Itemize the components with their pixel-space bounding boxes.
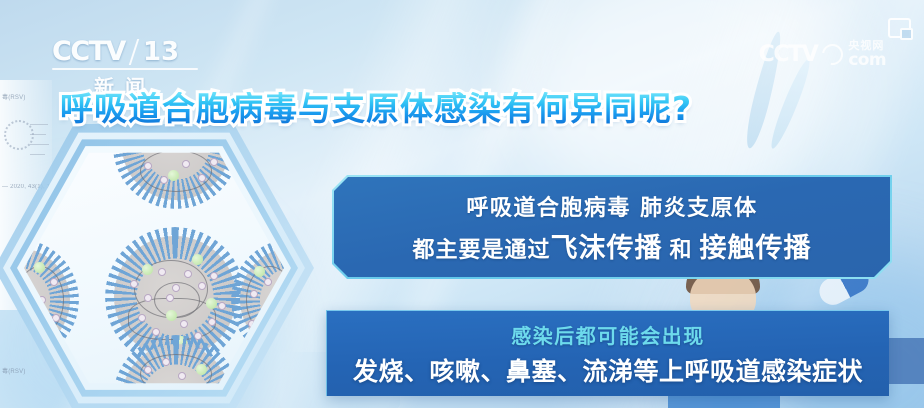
watermark-domain: com (848, 52, 886, 69)
virus-particle (122, 148, 230, 200)
panel-one-content: 呼吸道合胞病毒 肺炎支原体 都主要是通过 飞沫传播 和 接触传播 (334, 177, 890, 277)
virus-hexagon-graphic (0, 118, 314, 408)
broadcast-frame: 毒(RSV) — 2020, 43(1), 1-2 毒(RSV) (0, 0, 924, 408)
page-title: 呼吸道合胞病毒与支原体感染有何异同呢? 呼吸道合胞病毒与支原体感染有何异同呢? (60, 92, 880, 125)
channel-logo-row: CCTV 13 (52, 36, 202, 67)
panel-one-line2-conjunction: 和 (670, 232, 693, 264)
panel-two-line1: 感染后都可能会出现 (511, 320, 705, 349)
cctv-dot-com-watermark: CCTV 央视网 com (759, 40, 886, 69)
watermark-brand: CCTV (759, 42, 818, 67)
watermark-ring-icon (818, 40, 847, 69)
panel-one-emphasis-contact: 接触传播 (700, 226, 812, 265)
picture-in-picture-icon[interactable] (888, 18, 911, 38)
channel-number: 13 (143, 37, 179, 67)
logo-slash-icon (129, 39, 139, 65)
panel-one-line2: 都主要是通过 飞沫传播 和 接触传播 (412, 226, 811, 265)
panel-two: 感染后都可能会出现 发烧、咳嗽、鼻塞、流涕等上呼吸道感染症状 (326, 310, 889, 396)
document-label-top: 毒(RSV) (2, 92, 26, 101)
cctv-wordmark: CCTV (52, 36, 125, 67)
logo-divider (52, 68, 198, 70)
watermark-text-group: 央视网 com (848, 40, 886, 69)
panel-one-line1: 呼吸道合胞病毒 肺炎支原体 (466, 190, 757, 222)
panel-two-line2: 发烧、咳嗽、鼻塞、流涕等上呼吸道感染症状 (353, 352, 863, 388)
panel-one-emphasis-droplet: 飞沫传播 (551, 226, 663, 265)
panel-one-line2-prefix: 都主要是通过 (412, 232, 550, 264)
virus-particle (122, 344, 230, 388)
channel-logo: CCTV 13 新闻 (52, 36, 202, 94)
panel-one: 呼吸道合胞病毒 肺炎支原体 都主要是通过 飞沫传播 和 接触传播 (334, 177, 890, 277)
page-title-text: 呼吸道合胞病毒与支原体感染有何异同呢? (60, 92, 692, 125)
